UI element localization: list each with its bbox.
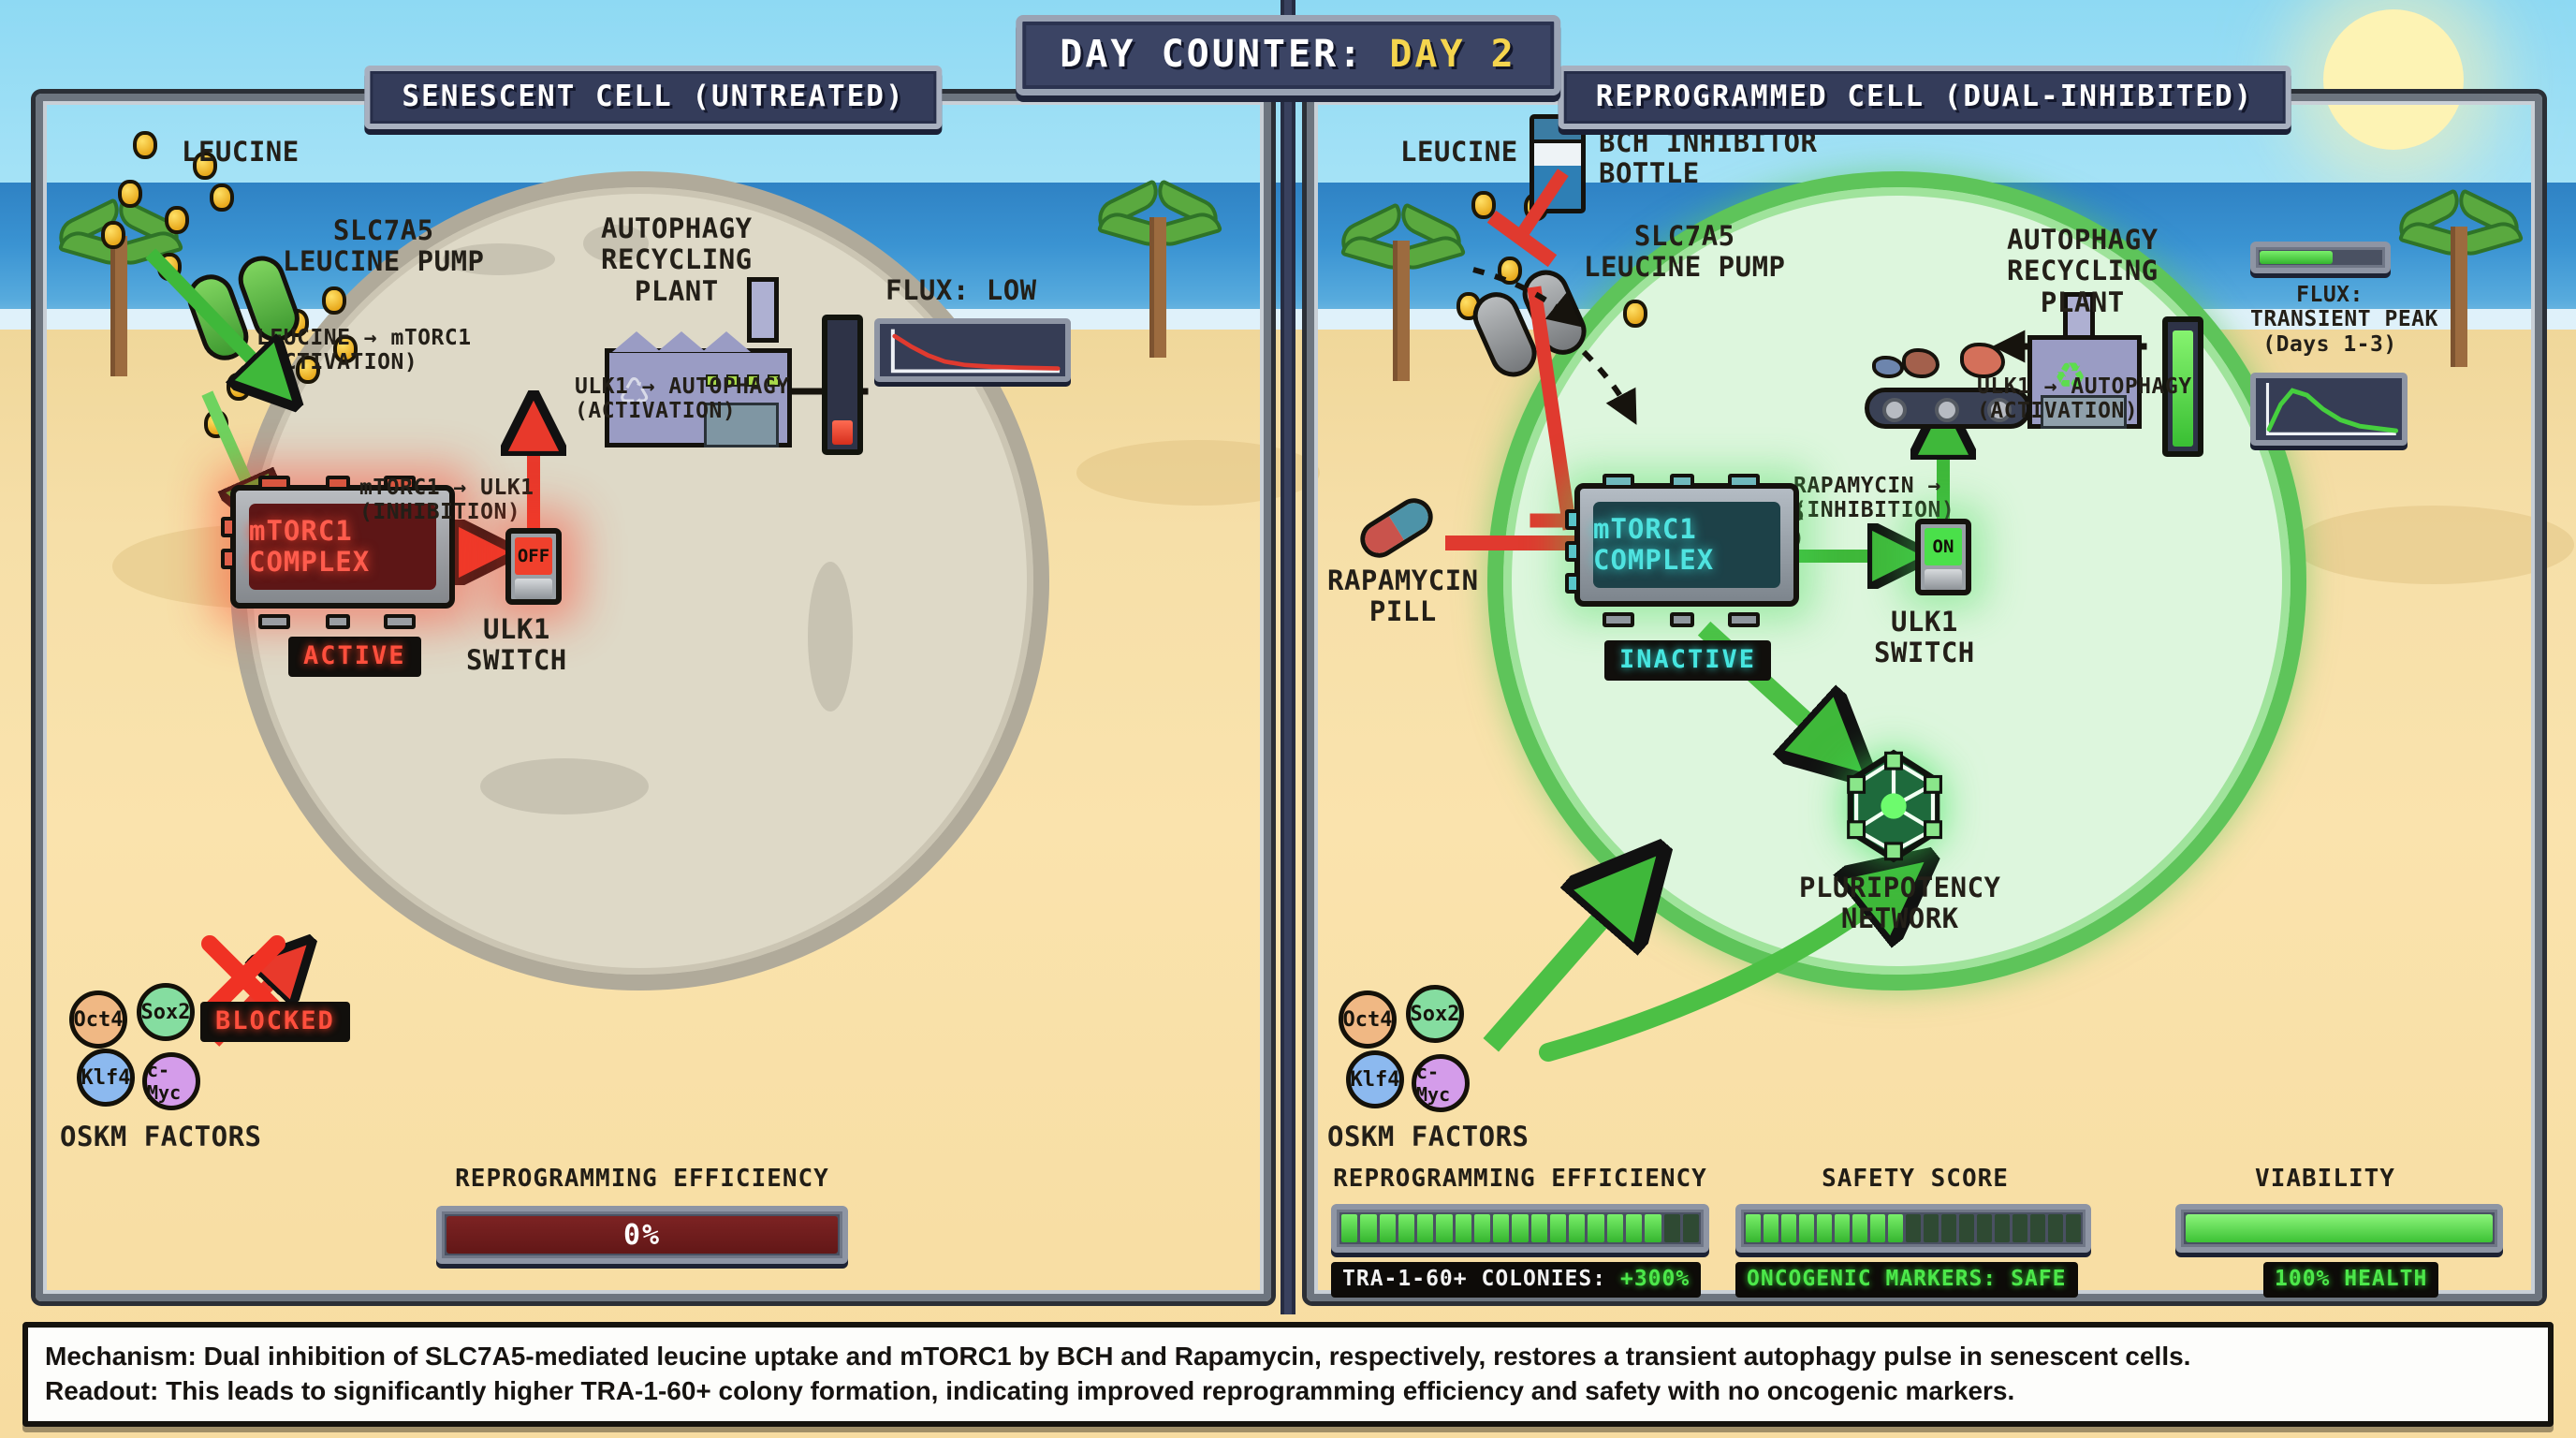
leucine-label-left: LEUCINE (182, 137, 300, 168)
slc7a5-pump-label-left: SLC7A5 LEUCINE PUMP (283, 215, 485, 278)
leucine-label-right: LEUCINE (1400, 137, 1518, 168)
pluripotency-network-icon (1835, 747, 1953, 865)
autophagy-plant-label-right: AUTOPHAGY RECYCLING PLANT (2007, 225, 2159, 318)
panel-title-senescent: SENESCENT CELL (UNTREATED) (364, 66, 942, 129)
oskm-factor-sox2-right: Sox2 (1406, 985, 1464, 1043)
bar-segment (1746, 1214, 1761, 1242)
bar-segment (1995, 1214, 2010, 1242)
readout-health: 100% HEALTH (2263, 1262, 2438, 1298)
ulk1-switch-label-left: ULK1 SWITCH (466, 614, 567, 677)
bar-segment (1626, 1214, 1642, 1242)
flux-chart-right (2250, 373, 2408, 446)
metric-title-safety: SAFETY SCORE (1726, 1165, 2104, 1193)
bar-segment (1977, 1214, 1992, 1242)
mtorc1-screen-label-right: mTORC1 COMPLEX (1593, 502, 1780, 588)
leucine-token (322, 286, 346, 315)
bar-segment (1360, 1214, 1376, 1242)
bar-segment (2012, 1214, 2027, 1242)
bar-segment (1888, 1214, 1903, 1242)
reprogramming-efficiency-bar-left: 0% (436, 1206, 848, 1264)
barfill-viability (2186, 1214, 2493, 1242)
oskm-label-left: OSKM FACTORS (60, 1122, 262, 1152)
leucine-token (101, 221, 125, 249)
metric-bar-safety (1735, 1204, 2091, 1253)
caption-mechanism: Mechanism: Dual inhibition of SLC7A5-med… (45, 1339, 2531, 1373)
bar-segment (1550, 1214, 1566, 1242)
autophagy-flux-gauge-left (822, 315, 863, 455)
flux-chart-left (874, 318, 1071, 382)
bar-segment (1683, 1214, 1699, 1242)
mtorc1-status-badge-right: INACTIVE (1604, 640, 1771, 681)
ulk1-autophagy-note-left: ULK1 → AUTOPHAGY (ACTIVATION) (575, 374, 790, 424)
bar-segment (2048, 1214, 2063, 1242)
leucine-token (157, 253, 182, 281)
day-counter-label: DAY COUNTER: (1060, 33, 1364, 76)
oskm-factor-klf4-left: Klf4 (77, 1049, 135, 1107)
cell-debris (1872, 356, 1904, 378)
ulk1-autophagy-note-right: ULK1 → AUTOPHAGY (ACTIVATION) (1977, 374, 2192, 424)
leucine-token (165, 206, 189, 234)
bar-segment (1906, 1214, 1921, 1242)
reprogramming-efficiency-title-left: REPROGRAMMING EFFICIENCY (380, 1165, 904, 1193)
segbar-efficiency (1341, 1214, 1699, 1242)
caption-readout: Readout: This leads to significantly hig… (45, 1373, 2531, 1408)
bar-segment (1341, 1214, 1357, 1242)
leucine-token (227, 373, 251, 401)
bar-segment (1531, 1214, 1547, 1242)
cell-blob (480, 758, 649, 814)
mtorc1-complex-inactive: mTORC1 COMPLEX (1574, 483, 1799, 607)
bar-segment (2030, 1214, 2045, 1242)
flux-label-left: FLUX: LOW (885, 275, 1037, 306)
day-counter-banner: DAY COUNTER: DAY 2 (1016, 15, 1560, 95)
ulk1-switch-label-right: ULK1 SWITCH (1874, 607, 1975, 669)
bar-segment (1456, 1214, 1471, 1242)
rapamycin-label: RAPAMYCIN PILL (1327, 565, 1479, 628)
bar-segment (1398, 1214, 1414, 1242)
mtorc1-status-badge-left: ACTIVE (288, 637, 421, 677)
leucine-token (210, 183, 234, 212)
metric-bar-efficiency (1331, 1204, 1709, 1253)
bar-fill-empty: 0% (446, 1216, 838, 1254)
bar-segment (1817, 1214, 1832, 1242)
oskm-factor-klf4-right: Klf4 (1346, 1050, 1404, 1108)
cell-debris (1960, 343, 2005, 378)
ulk1-switch-state-right: ON (1925, 528, 1962, 565)
scene: DAY COUNTER: DAY 2 SENESCENT CELL (UNTRE… (0, 0, 2576, 1438)
readout-colonies: TRA-1-60+ COLONIES: +300% (1331, 1262, 1701, 1298)
leucine-token (118, 180, 142, 208)
readout-oncogenic: ONCOGENIC MARKERS: SAFE (1735, 1262, 2078, 1298)
segbar-safety (1746, 1214, 2081, 1242)
bar-segment (1870, 1214, 1885, 1242)
cell-debris (1902, 348, 1939, 378)
leucine-token (1471, 191, 1496, 219)
bar-segment (1835, 1214, 1850, 1242)
oskm-label-right: OSKM FACTORS (1327, 1122, 1529, 1152)
panel-senescent: SENESCENT CELL (UNTREATED) LEUCINE SLC7 (36, 94, 1271, 1301)
blocked-badge: BLOCKED (200, 1002, 350, 1042)
autophagy-plant-label-left: AUTOPHAGY RECYCLING PLANT (601, 213, 753, 307)
oskm-factor-cmyc-left: c-Myc (142, 1052, 200, 1110)
rapamycin-pill (1354, 492, 1440, 565)
panel-reprogrammed: REPROGRAMMED CELL (DUAL-INHIBITED) LEUCI… (1307, 94, 2542, 1301)
ulk1-switch-off: OFF (505, 528, 562, 605)
panel-title-reprogrammed: REPROGRAMMED CELL (DUAL-INHIBITED) (1559, 66, 2291, 129)
bar-segment (1781, 1214, 1796, 1242)
bar-segment (1569, 1214, 1585, 1242)
flux-label-right: FLUX: TRANSIENT PEAK (Days 1-3) (2250, 283, 2409, 357)
bar-segment (1607, 1214, 1623, 1242)
signpost-lower (1281, 79, 1295, 1314)
slc7a5-pump-label-right: SLC7A5 LEUCINE PUMP (1584, 221, 1786, 284)
pluripotency-label: PLURIPOTENCY NETWORK (1799, 873, 2001, 935)
bar-segment (1380, 1214, 1396, 1242)
oskm-factor-oct4-right: Oct4 (1339, 990, 1397, 1049)
bar-segment (1493, 1214, 1509, 1242)
oskm-factor-sox2-left: Sox2 (137, 983, 195, 1041)
bar-segment (1512, 1214, 1528, 1242)
bar-segment (1588, 1214, 1603, 1242)
ulk1-switch-state-left: OFF (515, 537, 552, 575)
bar-segment (1852, 1214, 1867, 1242)
mtorc1-ulk1-inhibition-note: mTORC1 → ULK1 (INHIBITION) (359, 476, 534, 525)
caption-box: Mechanism: Dual inhibition of SLC7A5-med… (22, 1322, 2554, 1427)
bar-segment (1941, 1214, 1956, 1242)
day-counter-value: DAY 2 (1389, 33, 1515, 76)
reprogramming-efficiency-value-left: 0% (623, 1219, 661, 1252)
metric-bar-viability (2175, 1204, 2503, 1253)
bar-segment (1764, 1214, 1778, 1242)
gauge-fill-low (832, 420, 853, 445)
flux-top-bar-right (2250, 242, 2391, 273)
leucine-token (204, 410, 228, 438)
metric-title-viability: VIABILITY (2138, 1165, 2512, 1193)
bar-segment (1436, 1214, 1452, 1242)
bar-segment (1959, 1214, 1974, 1242)
flux-bar-fill (2260, 251, 2333, 264)
leucine-mtorc1-activation-note: LEUCINE → mTORC1 (ACTIVATION) (256, 326, 472, 375)
metric-title-efficiency: REPROGRAMMING EFFICIENCY (1314, 1165, 1726, 1193)
ulk1-switch-on: ON (1915, 519, 1971, 595)
oskm-factor-cmyc-right: c-Myc (1412, 1054, 1470, 1112)
bch-bottle-label: BCH INHIBITOR BOTTLE (1599, 127, 1817, 190)
oskm-factor-oct4-left: Oct4 (69, 990, 127, 1049)
leucine-token (1623, 300, 1647, 328)
bar-segment (1924, 1214, 1939, 1242)
bar-segment (1474, 1214, 1490, 1242)
bar-segment (1664, 1214, 1680, 1242)
cell-blob (808, 562, 853, 712)
rapamycin-inhibition-note: RAPAMYCIN → (INHIBITION) (1793, 474, 1954, 523)
bar-segment (1417, 1214, 1433, 1242)
leucine-token (133, 131, 157, 159)
bar-segment (1645, 1214, 1661, 1242)
bar-segment (1799, 1214, 1814, 1242)
bar-segment (2066, 1214, 2081, 1242)
